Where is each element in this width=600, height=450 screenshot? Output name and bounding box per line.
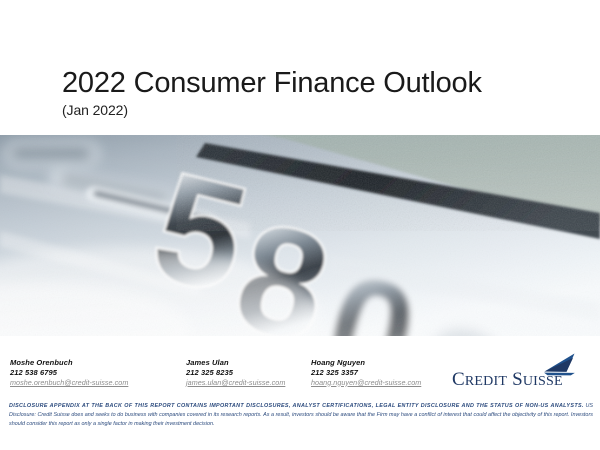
logo-word-credit: CREDITSUISSE [452, 369, 563, 390]
contact-email-link[interactable]: hoang.nguyen@credit-suisse.com [311, 378, 421, 387]
title-block: 2022 Consumer Finance Outlook (Jan 2022) [62, 68, 582, 118]
hero-image-credit-card-macro: 5 8 0 3 [0, 135, 600, 336]
disclosure-footnote: DISCLOSURE APPENDIX AT THE BACK OF THIS … [9, 402, 593, 428]
swoosh-icon [544, 354, 575, 376]
credit-suisse-logo-mark: CREDITSUISSE [452, 352, 592, 390]
page-subtitle: (Jan 2022) [62, 102, 582, 118]
contact-card: Moshe Orenbuch 212 538 6795 moshe.orenbu… [10, 358, 128, 387]
contact-name: Moshe Orenbuch [10, 358, 128, 368]
contact-name: Hoang Nguyen [311, 358, 421, 368]
contact-phone: 212 325 8235 [186, 368, 285, 378]
presentation-slide: 2022 Consumer Finance Outlook (Jan 2022) [0, 0, 600, 450]
contact-name: James Ulan [186, 358, 285, 368]
contact-email-link[interactable]: moshe.orenbuch@credit-suisse.com [10, 378, 128, 387]
contact-card: Hoang Nguyen 212 325 3357 hoang.nguyen@c… [311, 358, 421, 387]
disclosure-lead: DISCLOSURE APPENDIX AT THE BACK OF THIS … [9, 403, 584, 409]
contact-email-link[interactable]: james.ulan@credit-suisse.com [186, 378, 285, 387]
contact-phone: 212 325 3357 [311, 368, 421, 378]
page-title: 2022 Consumer Finance Outlook [62, 68, 582, 99]
credit-suisse-logo: CREDITSUISSE [452, 352, 592, 390]
credit-card-macro-illustration: 5 8 0 3 [0, 135, 600, 336]
contact-phone: 212 538 6795 [10, 368, 128, 378]
contact-card: James Ulan 212 325 8235 james.ulan@credi… [186, 358, 285, 387]
